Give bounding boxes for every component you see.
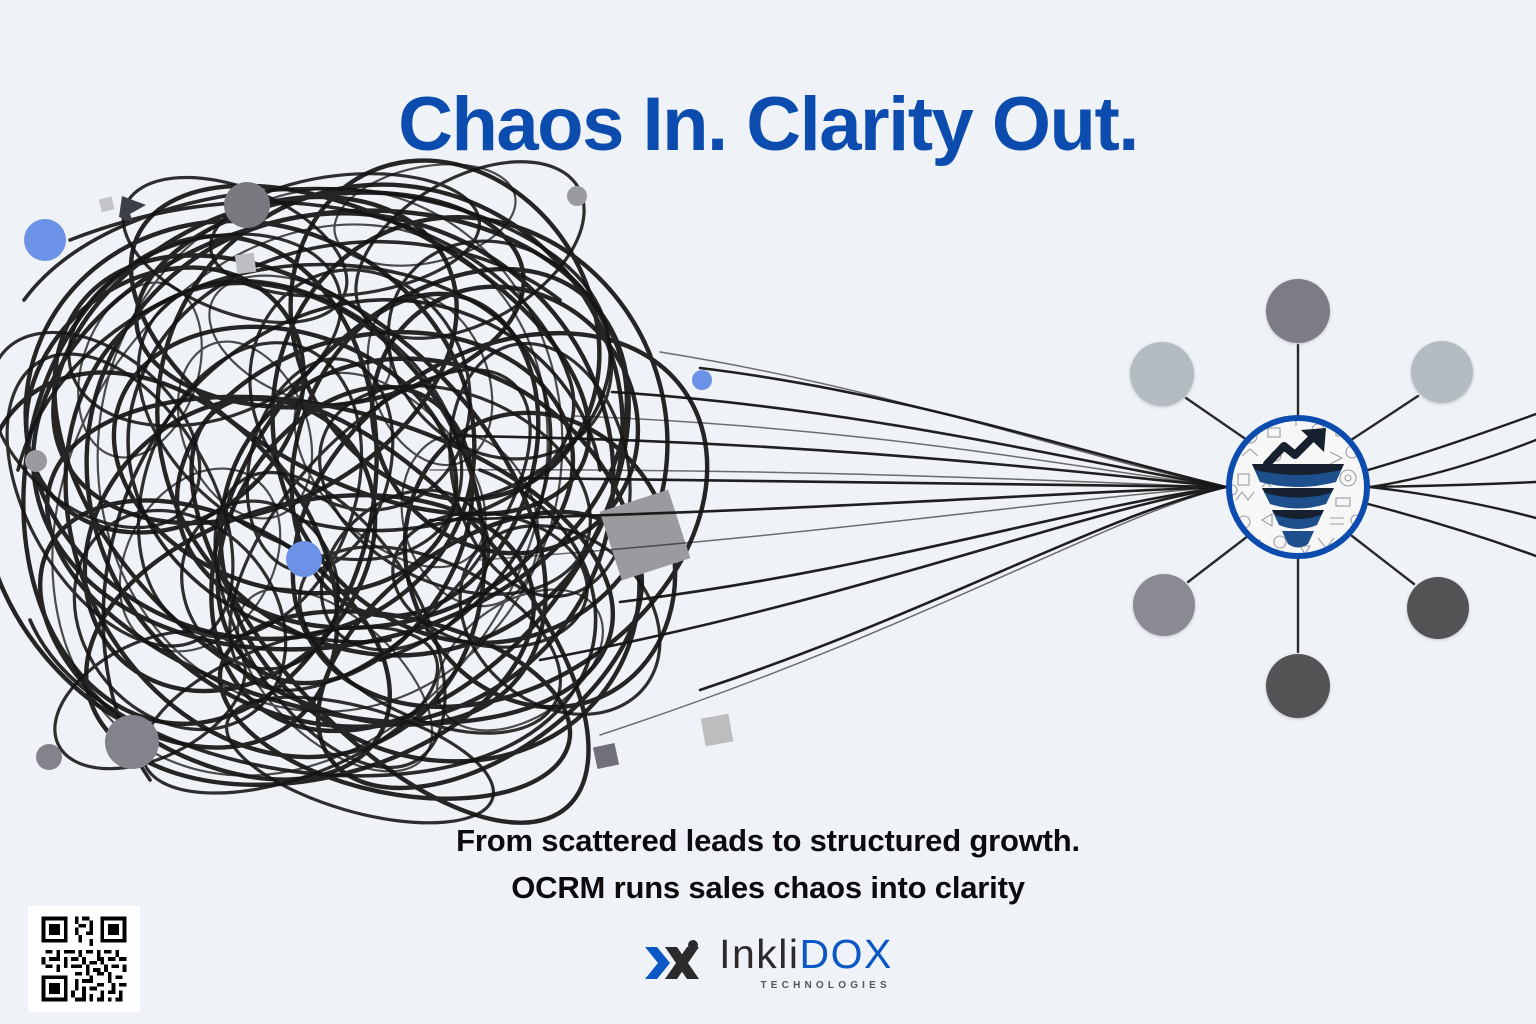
node-top — [1266, 279, 1330, 343]
dot-blue-3 — [692, 370, 712, 390]
funnel-hub — [1227, 418, 1367, 556]
node-bottom — [1266, 654, 1330, 718]
logo-wordmark: InkliDOX — [719, 934, 893, 975]
subtitle-block: From scattered leads to structured growt… — [0, 818, 1536, 911]
poster-canvas: Chaos In. Clarity Out. From scattered le… — [0, 0, 1536, 1024]
square-small-4 — [99, 196, 115, 212]
dot-blue-1 — [24, 219, 66, 261]
chaos-scribble-cluster — [0, 93, 779, 887]
spoke-lower-right — [1352, 536, 1414, 584]
brand-logo: InkliDOX TECHNOLOGIES — [0, 934, 1536, 991]
square-small-3 — [235, 253, 256, 274]
spoke-upper-left — [1186, 398, 1247, 440]
node-lower-right — [1407, 577, 1469, 639]
subtitle-line-2: OCRM runs sales chaos into clarity — [0, 865, 1536, 912]
qr-code[interactable] — [28, 906, 140, 1012]
dot-gray-3 — [25, 450, 47, 472]
dot-gray-4 — [105, 715, 159, 769]
spoke-upper-right — [1351, 396, 1418, 440]
dot-blue-2 — [286, 541, 322, 577]
page-title: Chaos In. Clarity Out. — [0, 85, 1536, 166]
node-upper-right — [1411, 341, 1473, 403]
dot-gray-1 — [224, 182, 270, 228]
inklidox-mark-icon — [643, 938, 705, 988]
node-upper-left — [1130, 342, 1194, 406]
subtitle-line-1: From scattered leads to structured growt… — [0, 818, 1536, 865]
dot-gray-2 — [567, 186, 587, 206]
spoke-lower-left — [1188, 536, 1248, 582]
node-lower-left — [1133, 574, 1195, 636]
logo-word-part-2: DOX — [800, 931, 893, 977]
square-small-1 — [593, 743, 619, 769]
square-small-2 — [701, 714, 733, 746]
qr-code-image — [38, 913, 130, 1005]
logo-tagline: TECHNOLOGIES — [760, 981, 890, 991]
logo-word-part-1: Inkli — [719, 931, 799, 977]
dot-gray-5 — [36, 744, 62, 770]
